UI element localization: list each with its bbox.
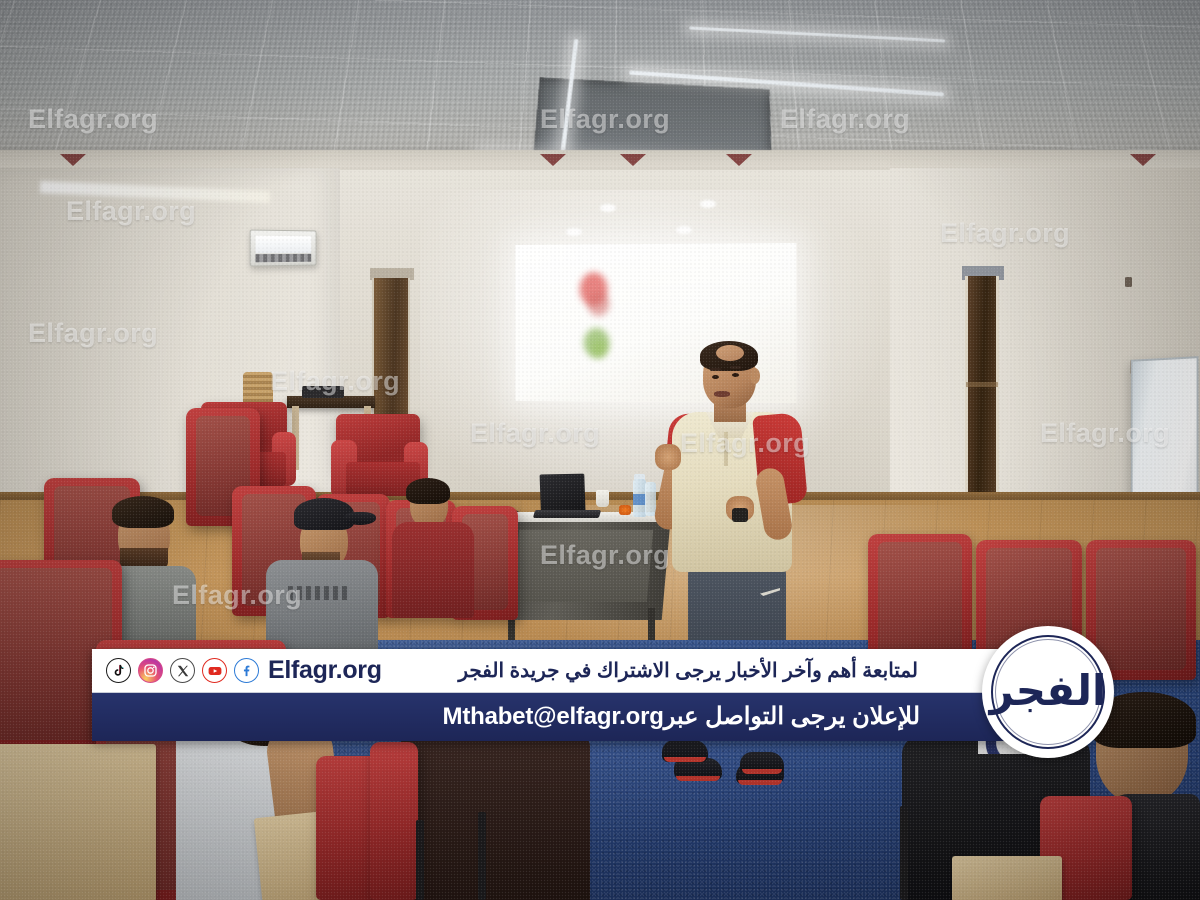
laptop-base[interactable] [533, 510, 601, 518]
screenshot-root: Elfagr.org Elfagr.org Elfagr.org Elfagr.… [0, 0, 1200, 900]
shoe-sole [664, 757, 706, 762]
presenter-placket [724, 432, 728, 466]
facebook-icon[interactable] [234, 658, 259, 683]
shoe-sole [676, 776, 720, 781]
banner-arabic-subscribe-text: لمتابعة أهم وآخر الأخبار يرجى الاشتراك ف… [382, 661, 994, 681]
contact-email[interactable]: Mthabet@elfagr.org [443, 703, 664, 731]
seat-writing-tablet[interactable] [0, 744, 156, 900]
presenter-eyebrow [730, 366, 741, 369]
presenter-mouth [714, 391, 730, 397]
presenter-eye [732, 373, 739, 377]
table-equipment [302, 386, 344, 398]
seat-leg [478, 812, 486, 900]
air-conditioner-unit [250, 230, 317, 267]
auditorium-seat[interactable] [868, 534, 972, 666]
presenter-eye [712, 375, 719, 379]
elfagr-promo-banner: Elfagr.org لمتابعة أهم وآخر الأخبار يرجى… [92, 649, 1004, 741]
laptop-screen[interactable] [540, 474, 586, 516]
ceiling-downlight [676, 226, 692, 234]
right-door[interactable] [965, 276, 999, 514]
shoe-sole [738, 780, 782, 785]
presentation-clicker[interactable] [732, 508, 748, 522]
attendee-hair [112, 496, 174, 528]
ceiling-downlight [600, 204, 616, 212]
social-icons-row [106, 658, 259, 683]
presenter-eyebrow [710, 368, 721, 371]
logo-wordmark: الفجر [990, 670, 1107, 712]
photo-scene: Elfagr.org Elfagr.org Elfagr.org Elfagr.… [0, 0, 1200, 900]
x-icon[interactable] [170, 658, 195, 683]
shoe-sole [742, 769, 782, 774]
slide-graphic-red [588, 292, 610, 316]
brand-url[interactable]: Elfagr.org [268, 658, 382, 683]
cap-brim [344, 512, 376, 525]
small-orange-object [619, 505, 631, 515]
banner-arabic-advertise-text: للإعلان يرجى التواصل عبر [664, 705, 920, 729]
tiktok-icon[interactable] [106, 658, 131, 683]
wall-socket [1125, 277, 1132, 287]
presenter-hand-left [655, 444, 681, 470]
seat-leg [416, 820, 424, 900]
attendee-body [392, 522, 474, 618]
shirt-graphic [288, 586, 350, 600]
youtube-icon[interactable] [202, 658, 227, 683]
right-door-rail [966, 382, 998, 387]
presenter-ear [750, 368, 760, 384]
banner-top-row: Elfagr.org لمتابعة أهم وآخر الأخبار يرجى… [92, 649, 1004, 693]
auditorium-seat-back[interactable] [400, 736, 590, 900]
seat-writing-tablet[interactable] [952, 856, 1062, 900]
presenter-table-panel [513, 530, 653, 602]
instagram-icon[interactable] [138, 658, 163, 683]
cup [596, 490, 609, 507]
attendee-hair [406, 478, 450, 504]
ceiling-downlight [566, 228, 582, 236]
ceiling-downlight [700, 200, 716, 208]
banner-bottom-row: Mthabet@elfagr.org للإعلان يرجى التواصل … [92, 693, 1004, 741]
presenter-forehead [716, 345, 744, 361]
ceiling [0, 0, 1200, 171]
elfagr-logo[interactable]: الفجر [982, 626, 1114, 758]
seat-leg [900, 806, 908, 900]
auditorium-seat[interactable] [370, 742, 418, 900]
slide-graphic-green [592, 340, 608, 358]
